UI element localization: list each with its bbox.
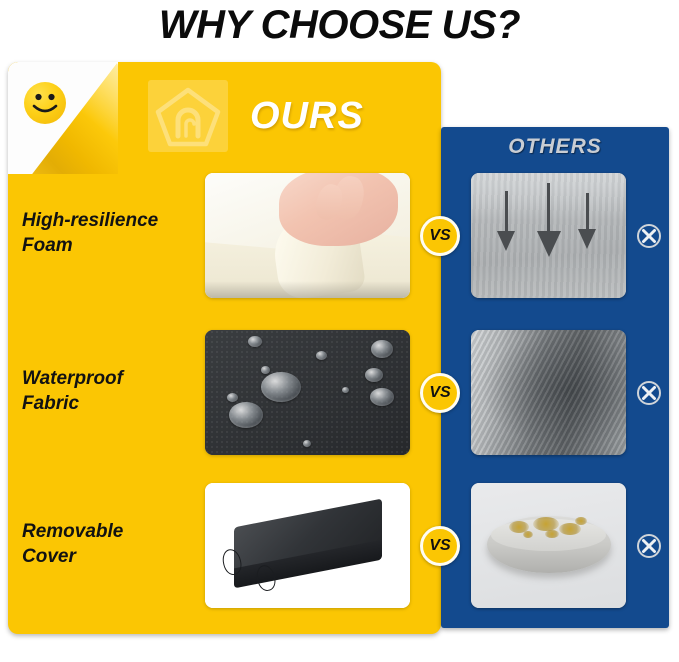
circle-x-icon-fabric: [636, 380, 662, 406]
pentagon-house-logo-icon: [148, 80, 228, 152]
vs-badge-foam: VS: [420, 216, 460, 256]
page-curl-corner: [8, 62, 118, 174]
vs-badge-fabric: VS: [420, 373, 460, 413]
others-image-foam: [471, 173, 626, 298]
vs-badge-cover: VS: [420, 526, 460, 566]
circle-x-icon-cover: [636, 533, 662, 559]
ours-title: OURS: [250, 95, 364, 138]
others-image-cover: [471, 483, 626, 608]
others-title: OTHERS: [441, 135, 669, 159]
ours-image-foam: [205, 173, 410, 298]
ours-image-fabric: [205, 330, 410, 455]
ours-image-cover: [205, 483, 410, 608]
circle-x-icon-foam: [636, 223, 662, 249]
others-image-fabric: [471, 330, 626, 455]
feature-label-fabric: WaterproofFabric: [22, 366, 202, 416]
feature-label-cover: RemovableCover: [22, 519, 202, 569]
feature-label-foam: High-resilienceFoam: [22, 208, 202, 258]
smiley-face-icon: [24, 82, 66, 124]
page-title: WHY CHOOSE US?: [0, 2, 679, 48]
